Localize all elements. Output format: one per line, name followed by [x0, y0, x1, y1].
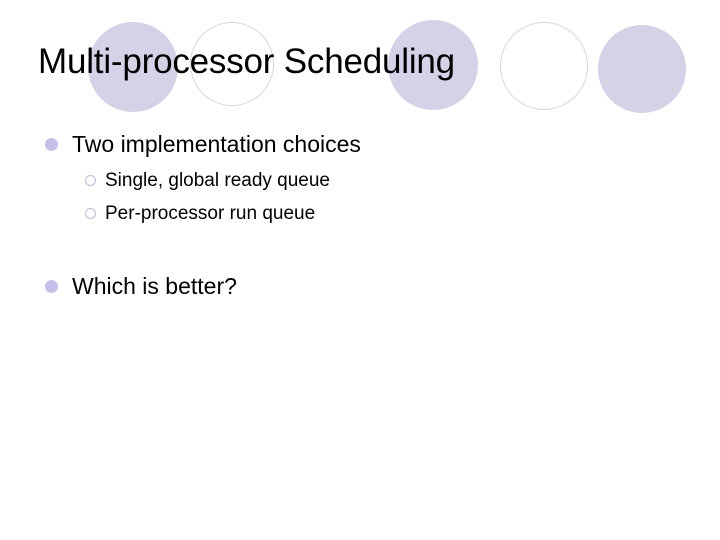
slide-title: Multi-processor Scheduling [38, 38, 698, 86]
bullet-item-level2: Single, global ready queue [0, 164, 720, 197]
bullet-item-level1: Which is better? [0, 268, 720, 304]
bullet-text: Single, global ready queue [105, 164, 720, 197]
bullet-text: Two implementation choices [72, 126, 720, 162]
hollow-circle-bullet-icon [85, 208, 96, 219]
bullet-text: Which is better? [72, 268, 720, 304]
bullet-group-spacer [0, 230, 720, 268]
content-placeholder: Two implementation choices Single, globa… [0, 126, 720, 306]
hollow-circle-bullet-icon [85, 175, 96, 186]
title-placeholder: Multi-processor Scheduling [38, 38, 698, 96]
filled-disc-bullet-icon [45, 138, 58, 151]
presentation-slide: Multi-processor Scheduling Two implement… [0, 0, 720, 540]
filled-disc-bullet-icon [45, 280, 58, 293]
bullet-item-level2: Per-processor run queue [0, 197, 720, 230]
bullet-item-level1: Two implementation choices [0, 126, 720, 162]
bullet-text: Per-processor run queue [105, 197, 720, 230]
